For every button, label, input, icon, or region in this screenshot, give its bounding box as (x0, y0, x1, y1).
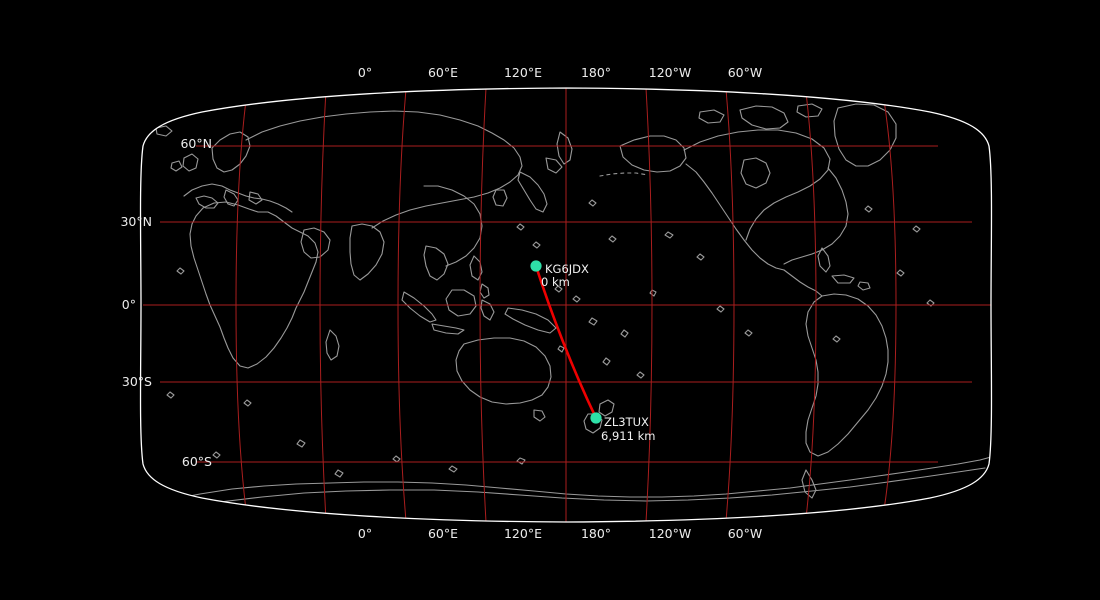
map-background (0, 0, 1100, 600)
lon-label-top-1: 60°E (428, 65, 458, 80)
robinson-map: KG6JDX 0 km ZL3TUX 6,911 km 0° 60°E 120°… (0, 0, 1100, 600)
lon-label-top-3: 180° (581, 65, 611, 80)
lon-label-top-5: 60°W (728, 65, 763, 80)
lon-label-bottom-5: 60°W (728, 526, 763, 541)
station-marker-kg6jdx[interactable] (530, 260, 541, 271)
station-distance-kg6jdx: 0 km (541, 275, 570, 289)
station-marker-zl3tux[interactable] (590, 412, 601, 423)
lon-label-bottom-0: 0° (358, 526, 372, 541)
lat-label-0: 0° (122, 297, 136, 312)
lon-label-top-0: 0° (358, 65, 372, 80)
lat-label-30S: 30°S (122, 374, 152, 389)
lat-label-60N: 60°N (180, 136, 212, 151)
station-distance-zl3tux: 6,911 km (601, 429, 655, 443)
map-canvas: Robinson Projection QK23KN to RE66HO (15… (0, 0, 1100, 600)
lon-label-bottom-4: 120°W (649, 526, 691, 541)
lon-label-bottom-1: 60°E (428, 526, 458, 541)
lon-label-bottom-3: 180° (581, 526, 611, 541)
lat-label-60S: 60°S (182, 454, 212, 469)
station-callsign-zl3tux: ZL3TUX (604, 415, 649, 429)
lat-label-30N: 30°N (120, 214, 152, 229)
lon-label-top-2: 120°E (504, 65, 542, 80)
lon-label-bottom-2: 120°E (504, 526, 542, 541)
station-callsign-kg6jdx: KG6JDX (545, 262, 589, 276)
lon-label-top-4: 120°W (649, 65, 691, 80)
